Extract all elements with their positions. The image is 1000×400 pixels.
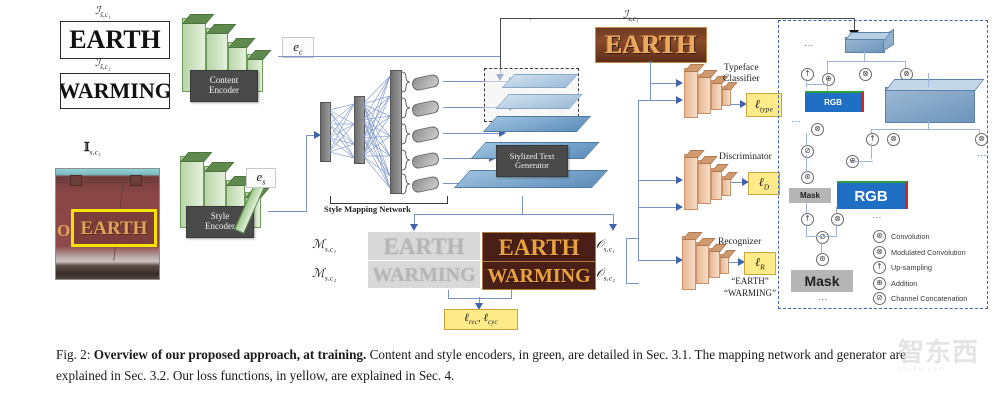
generator-slab-2	[495, 94, 583, 109]
detail-rgb-small: RGB	[805, 91, 864, 112]
recognizer-predictions: “EARTH”“WARMING”	[714, 276, 786, 299]
loss-typeface: ℓtype	[746, 93, 782, 117]
content-input-2-image: WARMING	[60, 73, 170, 109]
mask-output-1-label: ℳs,c₁	[312, 237, 336, 253]
style-input-label: 𝕀s,c₁	[84, 140, 101, 156]
edge-ref-down2	[650, 83, 651, 100]
legend-item-convolution: ⊛ Convolution	[873, 230, 967, 243]
loss-rec-cyc: ℓrec, ℓcyc	[444, 309, 518, 330]
modulated-convolution-icon: ⊗	[873, 246, 886, 259]
stylized-output-1-label: 𝒪s,c₁	[596, 237, 615, 253]
style-input-photo: O EARTH	[55, 168, 160, 280]
up-sampling-icon: ↑	[873, 261, 886, 274]
stylized-text-generator: Stylized TextGenerator	[460, 60, 650, 225]
style-mapping-network-label: Style Mapping Network	[324, 204, 411, 214]
legend-item-up-sampling: ↑ Up-sampling	[873, 261, 967, 274]
stylized-output-2: WARMING	[482, 261, 596, 290]
legend-item-channel-concatenation: ⊘ Channel Concatenation	[873, 292, 967, 305]
reference-image: EARTH	[595, 27, 707, 63]
style-photo-sign: EARTH	[71, 209, 157, 247]
watermark-subtext: zhidx.com	[898, 366, 994, 373]
stylized-output-2-label: 𝒪s,c₂	[596, 266, 615, 282]
mask-output-1: EARTH	[368, 232, 480, 260]
detail-mask-large: Mask	[791, 270, 853, 292]
edge-ref-to-typeface	[650, 83, 678, 84]
content-input-2-label: ℐŝ,c₂	[95, 56, 111, 71]
content-input-1-label: ℐŝ,c₁	[95, 4, 111, 19]
channel-concatenation-icon: ⊘	[873, 292, 886, 305]
loss-discriminator: ℓD	[748, 172, 780, 195]
generator-label: Stylized TextGenerator	[496, 145, 568, 177]
content-encoder: ContentEncoder	[180, 14, 278, 106]
style-mapping-network: Style Mapping Network	[316, 62, 456, 212]
watermark: 智东西 zhidx.com	[898, 340, 994, 398]
mask-output-2: WARMING	[368, 261, 480, 288]
edge-gen-left-arrow	[410, 224, 418, 231]
convolution-icon: ⊛	[873, 230, 886, 243]
style-embedding-label: es	[246, 168, 276, 188]
edge-es-up	[306, 135, 307, 212]
edge-ec-to-generator	[278, 56, 500, 57]
outputs-brace	[626, 238, 639, 284]
generator-detail-legend: ⊛ Convolution ⊗ Modulated Convolution ↑ …	[873, 230, 967, 308]
reference-label: ℐs,c₁	[623, 8, 639, 23]
edge-trunk-recog	[638, 260, 678, 261]
edge-gen-out	[522, 196, 523, 214]
detail-block-top-face	[845, 32, 891, 40]
edge-detail-down-left	[500, 18, 501, 68]
edge-to-detail-panel	[500, 18, 854, 19]
content-encoder-label: ContentEncoder	[190, 70, 258, 102]
recognizer-title: Recognizer	[718, 237, 761, 248]
edge-ref-down	[650, 61, 651, 83]
watermark-text: 智东西	[898, 340, 994, 366]
detail-block-large	[885, 87, 975, 123]
detail-mask-small: Mask	[789, 188, 831, 203]
discriminator-title: Discriminator	[719, 152, 772, 163]
generator-slab-3	[483, 116, 591, 132]
content-input-1-image: EARTH	[60, 21, 170, 59]
generator-slab-1	[502, 74, 579, 88]
typeface-classifier-title: TypefaceClassifier	[723, 63, 759, 85]
style-encoder: StyleEncoder	[178, 148, 276, 244]
caption-bold: Overview of our proposed approach, at tr…	[94, 347, 367, 362]
legend-item-addition: ⊕ Addition	[873, 277, 967, 290]
addition-icon: ⊕	[873, 277, 886, 290]
edge-trunk-disc1	[638, 180, 678, 181]
loss-recognizer: ℓR	[744, 252, 776, 275]
figure-root: ℐŝ,c₁ EARTH ℐŝ,c₂ WARMING 𝕀s,c₁ O EARTH …	[0, 0, 1000, 400]
detail-block-large-face	[885, 79, 984, 91]
edge-trunk-disc2	[638, 207, 678, 208]
generator-detail-panel: ⋮ ↑ ⊕ ⊗ ⊗ RGB ⋮ ⊗ ⊘ ↑ ⊗ ⊗ ⋮ ⊕ ⊛	[778, 20, 988, 309]
edge-gen-split	[414, 214, 614, 215]
legend-item-modulated-convolution: ⊗ Modulated Convolution	[873, 246, 967, 259]
stylized-output-1: EARTH	[482, 232, 596, 262]
detail-rgb-large: RGB	[837, 181, 908, 209]
edge-gen-right-arrow	[609, 224, 617, 231]
figure-caption: Fig. 2: Overview of our proposed approac…	[56, 344, 946, 387]
content-embedding-label: ec	[282, 37, 314, 58]
mask-output-2-label: ℳs,c₂	[312, 266, 336, 282]
edge-es-right	[268, 211, 306, 212]
style-photo-partial-letter: O	[57, 221, 70, 241]
caption-prefix: Fig. 2:	[56, 347, 90, 362]
edge-trunk-typeface2	[638, 100, 678, 101]
